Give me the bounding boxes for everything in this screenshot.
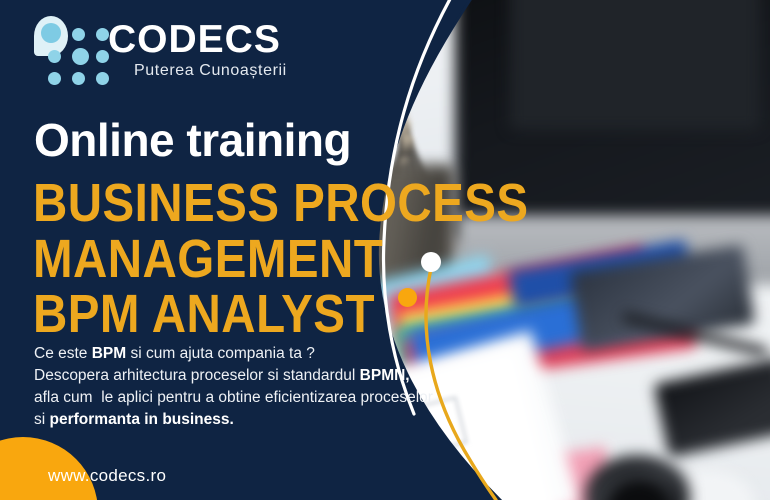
website-url[interactable]: www.codecs.ro [48, 466, 166, 486]
body-line-1: Ce este BPM si cum ajuta compania ta ? [34, 343, 454, 365]
logo-dot [96, 72, 109, 85]
codecs-dot-grid-pin-logo-icon [34, 16, 98, 78]
body-line-2: Descopera arhitectura proceselor si stan… [34, 365, 454, 387]
body-text: Ce este [34, 345, 92, 362]
headline-line-1: BUSINESS PROCESS [33, 172, 529, 234]
logo-dot [72, 48, 89, 65]
logo-dot [72, 72, 85, 85]
body-bold-bpm: BPM [92, 345, 126, 362]
body-copy: Ce este BPM si cum ajuta compania ta ? D… [34, 343, 454, 431]
body-line-3: afla cum le aplici pentru a obtine efici… [34, 387, 454, 409]
body-bold-performanta: performanta in business. [50, 411, 234, 428]
logo-wordmark: CODECS [108, 18, 281, 62]
amber-pin-dot [398, 288, 417, 307]
headline-eyebrow: Online training [34, 113, 351, 167]
body-text: si [34, 411, 50, 428]
logo-dot [48, 50, 61, 63]
body-bold-bpmn: BPMN, [360, 367, 410, 384]
codecs-logo[interactable]: CODECS Puterea Cunoașterii [34, 16, 294, 88]
body-text: si cum ajuta compania ta ? [126, 345, 315, 362]
headline-line-2: MANAGEMENT [33, 228, 383, 290]
promo-banner: CODECS Puterea Cunoașterii Online traini… [0, 0, 770, 500]
body-line-4: si performanta in business. [34, 409, 454, 431]
body-text: Descopera arhitectura proceselor si stan… [34, 367, 360, 384]
white-pin-dot [421, 252, 441, 272]
logo-dot [48, 72, 61, 85]
logo-dot [72, 28, 85, 41]
headline-line-3: BPM ANALYST [33, 283, 375, 345]
logo-tagline: Puterea Cunoașterii [134, 62, 287, 80]
